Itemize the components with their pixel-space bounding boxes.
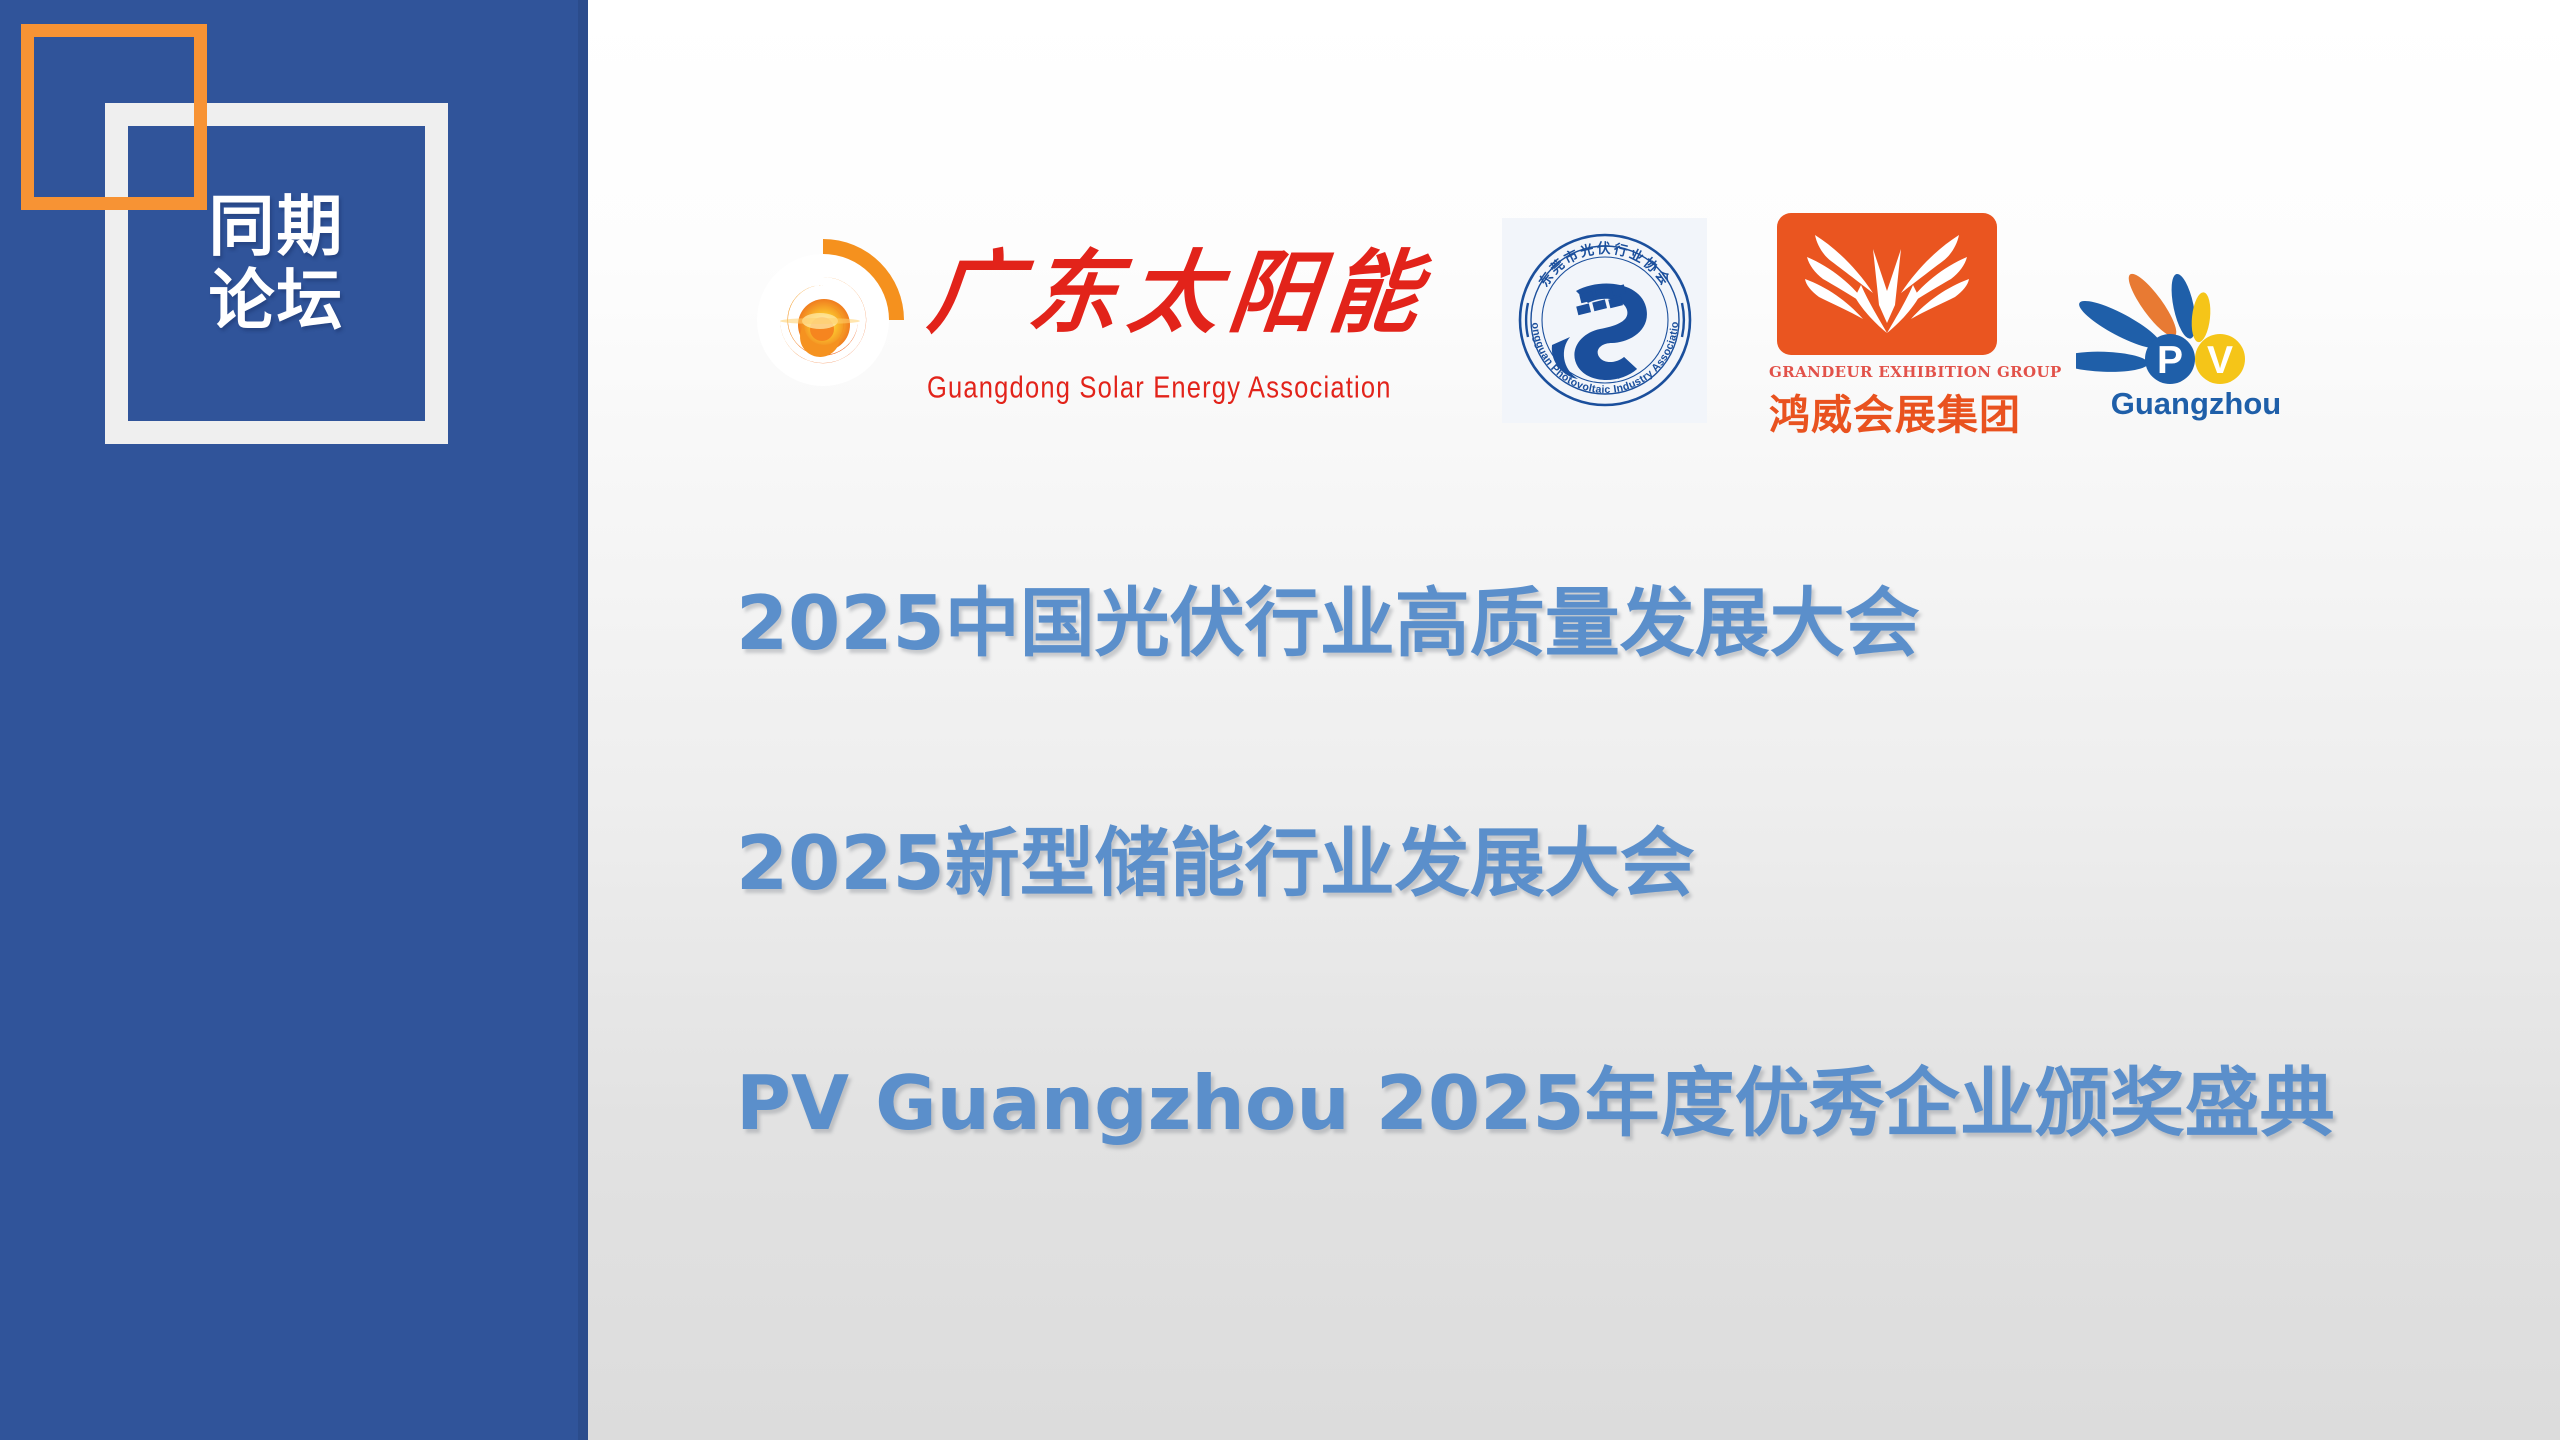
grandeur-chinese-name: 鸿威会展集团 xyxy=(1769,381,2004,441)
gdsea-wordmark: 广东太阳能 Guangdong Solar Energy Association xyxy=(921,233,1441,408)
dongguan-circular-emblem-icon: 东莞市光伏行业协会 Dongguan Photovoltaic Industry… xyxy=(1516,231,1694,409)
spiral-sun-icon xyxy=(736,233,911,408)
content-area: 广东太阳能 Guangdong Solar Energy Association xyxy=(588,0,2560,1440)
pv-guangzhou-city-name: Guangzhou xyxy=(2076,386,2316,422)
pv-monogram-icon: P V xyxy=(2142,333,2250,381)
gdsea-chinese-name: 广东太阳能 xyxy=(923,241,1434,346)
grandeur-wings-icon xyxy=(1777,213,1997,355)
orange-outline-square-decoration xyxy=(21,24,207,210)
forum-title-list: 2025中国光伏行业高质量发展大会 2025新型储能行业发展大会 PV Guan… xyxy=(736,575,2536,1151)
forum-badge-line-2: 论坛 xyxy=(105,264,448,338)
slide-canvas: 同期 论坛 xyxy=(0,0,2560,1440)
forum-title-line-1: 2025中国光伏行业高质量发展大会 xyxy=(736,575,2536,671)
svg-text:P: P xyxy=(2157,339,2183,382)
forum-badge-label: 同期 论坛 xyxy=(105,190,448,338)
grandeur-english-name: GRANDEUR EXHIBITION GROUP xyxy=(1769,363,2004,381)
sidebar-edge-stripe xyxy=(578,0,588,1440)
sponsor-logo-strip: 广东太阳能 Guangdong Solar Energy Association xyxy=(736,195,2376,445)
logo-dongguan-photovoltaic-industry-association: 东莞市光伏行业协会 Dongguan Photovoltaic Industry… xyxy=(1502,218,1707,423)
logo-grandeur-exhibition-group: GRANDEUR EXHIBITION GROUP 鸿威会展集团 xyxy=(1769,213,2004,428)
logo-guangdong-solar-energy-association: 广东太阳能 Guangdong Solar Energy Association xyxy=(736,220,1456,420)
forum-title-line-3: PV Guangzhou 2025年度优秀企业颁奖盛典 xyxy=(736,1055,2536,1151)
svg-text:V: V xyxy=(2207,339,2233,382)
gdsea-english-name: Guangdong Solar Energy Association xyxy=(927,371,1392,405)
forum-title-line-2: 2025新型储能行业发展大会 xyxy=(736,815,2536,911)
forum-badge-line-1: 同期 xyxy=(105,190,448,264)
pv-guangzhou-wordmark: P V Guangzhou xyxy=(2076,333,2316,422)
svg-text:东莞市光伏行业协会: 东莞市光伏行业协会 xyxy=(1535,240,1675,290)
logo-pv-guangzhou: P V Guangzhou xyxy=(2076,215,2316,425)
